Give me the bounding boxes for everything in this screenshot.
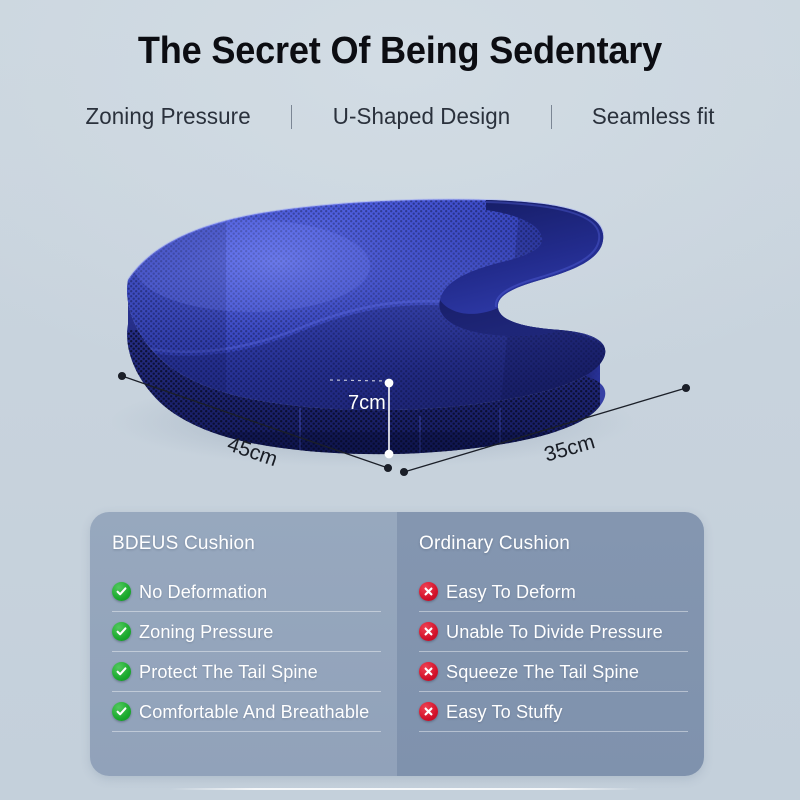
feature-row: Easy To Deform bbox=[419, 572, 688, 612]
feature-label: Zoning Pressure bbox=[139, 621, 273, 643]
feature-label: Easy To Deform bbox=[446, 581, 576, 603]
cross-circle-icon bbox=[419, 662, 438, 681]
tagline-item-u-shaped-design: U-Shaped Design bbox=[333, 103, 511, 130]
feature-label: Squeeze The Tail Spine bbox=[446, 661, 639, 683]
feature-row: Comfortable And Breathable bbox=[112, 692, 381, 732]
feature-label: Unable To Divide Pressure bbox=[446, 621, 663, 643]
comparison-panel: BDEUS Cushion No Deformation bbox=[90, 512, 704, 776]
page-title: The Secret Of Being Sedentary bbox=[20, 30, 780, 73]
check-circle-icon bbox=[112, 582, 131, 601]
column-heading-ordinary: Ordinary Cushion bbox=[419, 533, 688, 555]
feature-label: Protect The Tail Spine bbox=[139, 661, 318, 683]
feature-label: No Deformation bbox=[139, 581, 267, 603]
feature-list-ordinary: Easy To Deform Unable To Divide Pressure bbox=[419, 572, 688, 732]
tagline-item-seamless-fit: Seamless fit bbox=[592, 103, 715, 130]
check-circle-icon bbox=[112, 702, 131, 721]
cross-circle-icon bbox=[419, 582, 438, 601]
comparison-column-bdeus: BDEUS Cushion No Deformation bbox=[90, 512, 397, 776]
feature-label: Easy To Stuffy bbox=[446, 701, 563, 723]
feature-tagline-row: Zoning Pressure U-Shaped Design Seamless… bbox=[0, 103, 800, 130]
cross-circle-icon bbox=[419, 622, 438, 641]
cross-circle-icon bbox=[419, 702, 438, 721]
check-circle-icon bbox=[112, 622, 131, 641]
product-image bbox=[0, 150, 800, 500]
column-heading-bdeus: BDEUS Cushion bbox=[112, 533, 381, 555]
tagline-separator bbox=[291, 105, 292, 129]
comparison-column-ordinary: Ordinary Cushion Easy To Deform bbox=[397, 512, 704, 776]
feature-list-bdeus: No Deformation Zoning Pressure bbox=[112, 572, 381, 732]
feature-row: Unable To Divide Pressure bbox=[419, 612, 688, 652]
check-circle-icon bbox=[112, 662, 131, 681]
feature-row: Zoning Pressure bbox=[112, 612, 381, 652]
feature-label: Comfortable And Breathable bbox=[139, 701, 369, 723]
tagline-separator bbox=[551, 105, 552, 129]
infographic-page: The Secret Of Being Sedentary Zoning Pre… bbox=[0, 0, 800, 800]
feature-row: Easy To Stuffy bbox=[419, 692, 688, 732]
footer-divider bbox=[170, 788, 640, 790]
feature-row: Protect The Tail Spine bbox=[112, 652, 381, 692]
tagline-item-zoning-pressure: Zoning Pressure bbox=[86, 103, 251, 130]
feature-row: No Deformation bbox=[112, 572, 381, 612]
feature-row: Squeeze The Tail Spine bbox=[419, 652, 688, 692]
